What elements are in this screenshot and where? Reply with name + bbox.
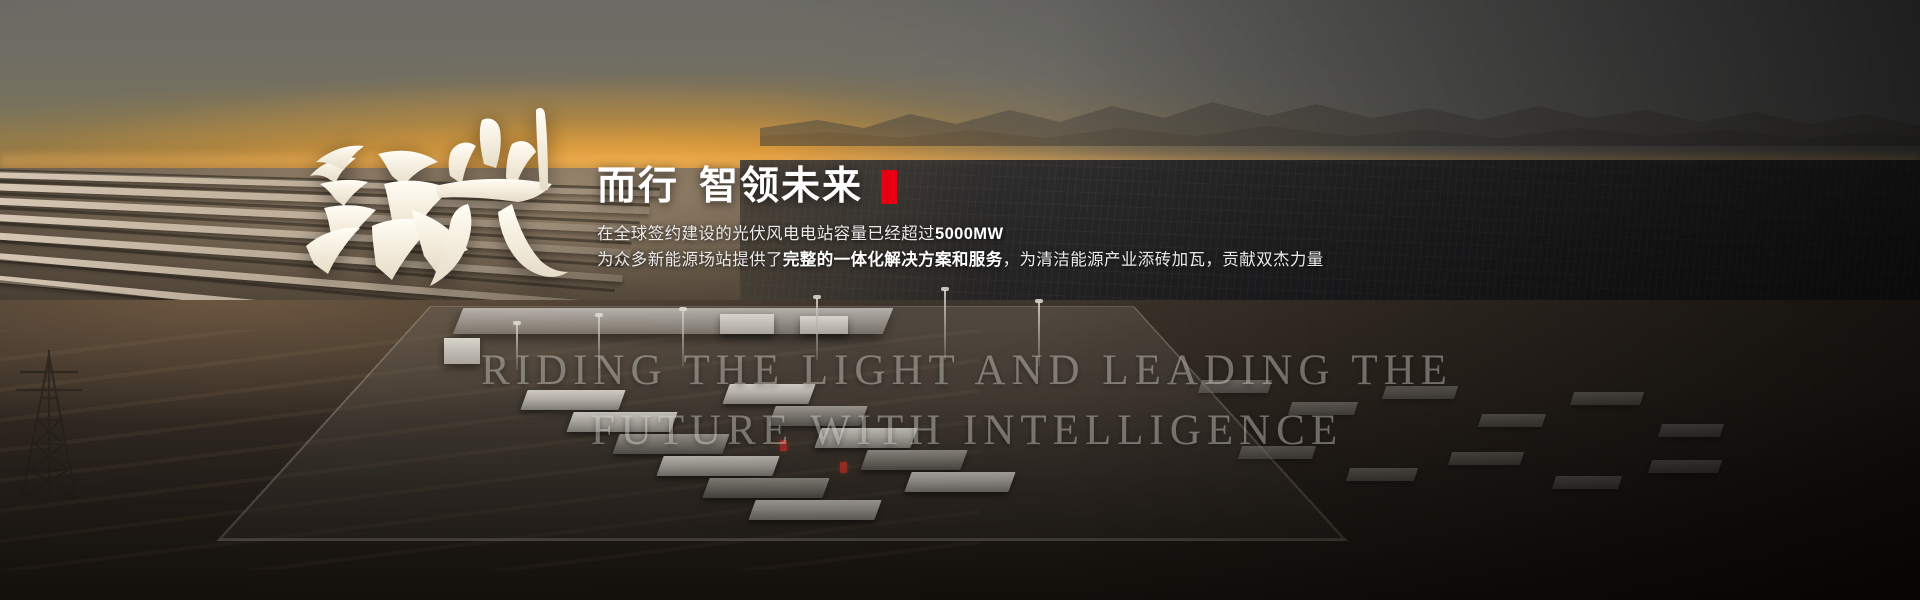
- equipment-container: [814, 428, 917, 448]
- substation-building: [444, 338, 480, 364]
- light-mast: [944, 290, 946, 360]
- equipment-container: [702, 478, 829, 498]
- subtitle-line-1-highlight: 5000MW: [935, 225, 1003, 243]
- light-mast: [1038, 302, 1040, 366]
- hero-banner: 而行 智领未来 在全球签约建设的光伏风电电站容量已经超过5000MW 为众多新能…: [0, 0, 1920, 600]
- equipment-container: [904, 472, 1015, 492]
- mountain-ridge: [760, 84, 1920, 146]
- equipment-container: [520, 390, 625, 410]
- red-equipment-marker: [780, 440, 787, 451]
- subtitle-line-2-highlight: 完整的一体化解决方案和服务: [783, 251, 1003, 269]
- equipment-container: [722, 384, 815, 404]
- equipment-container: [748, 500, 881, 520]
- equipment-container: [612, 434, 729, 454]
- red-accent-block: [881, 170, 897, 204]
- equipment-container: [656, 456, 779, 476]
- hero-copy: 而行 智领未来 在全球签约建设的光伏风电电站容量已经超过5000MW 为众多新能…: [597, 163, 1357, 273]
- subtitle-line-2-prefix: 为众多新能源场站提供了: [597, 251, 783, 269]
- background-photo: [0, 0, 1920, 600]
- light-mast: [598, 316, 600, 368]
- substation-compound: [420, 280, 1140, 590]
- subtitle-line-2: 为众多新能源场站提供了完整的一体化解决方案和服务，为清洁能源产业添砖加瓦，贡献双…: [597, 247, 1357, 273]
- equipment-container: [768, 406, 867, 426]
- substation-building: [800, 316, 848, 334]
- transmission-tower-icon: [6, 348, 92, 498]
- headline-part-2: 智领未来: [699, 163, 863, 211]
- equipment-container: [860, 450, 967, 470]
- subtitle-line-1: 在全球签约建设的光伏风电电站容量已经超过5000MW: [597, 221, 1357, 247]
- subtitle-line-2-suffix: ，为清洁能源产业添砖加瓦，贡献双杰力量: [1003, 251, 1324, 269]
- substation-building: [720, 314, 774, 334]
- subtitle-line-1-prefix: 在全球签约建设的光伏风电电站容量已经超过: [597, 225, 935, 243]
- light-mast: [516, 324, 518, 370]
- page-title: 而行 智领未来: [597, 163, 1357, 211]
- equipment-container: [566, 412, 677, 432]
- equipment-yard-right: [1180, 372, 1800, 572]
- headline-part-1: 而行: [597, 163, 679, 211]
- light-mast: [682, 310, 684, 366]
- light-mast: [816, 298, 818, 360]
- red-equipment-marker: [840, 462, 847, 473]
